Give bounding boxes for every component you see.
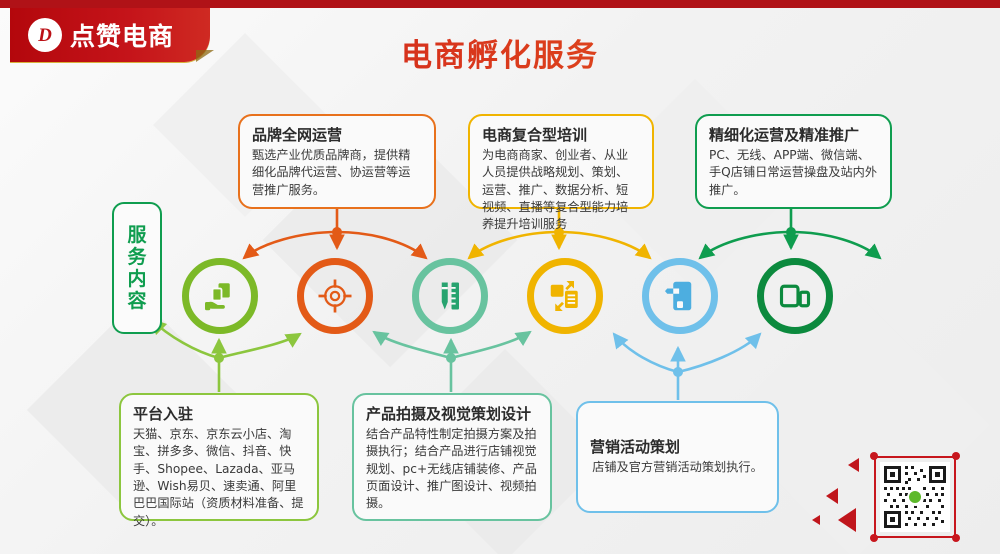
card-body: 店铺及官方营销活动策划执行。 [590, 459, 765, 476]
card-platform-entry[interactable]: 平台入驻 天猫、京东、京东云小店、淘宝、拼多多、微信、抖音、快手、Shopee、… [119, 393, 319, 521]
page-title: 电商孵化服务 [0, 30, 1000, 75]
qr-corner-dot [952, 534, 960, 542]
node-document-exchange[interactable] [527, 258, 603, 334]
card-body: 甄选产业优质品牌商，提供精细化品牌代运营、协运营等运营推广服务。 [252, 147, 422, 199]
card-title: 精细化运营及精准推广 [709, 126, 878, 144]
qr-logo [907, 489, 924, 506]
node-hand-holding-document[interactable] [182, 258, 258, 334]
side-label-char: 务 [127, 246, 146, 268]
card-title: 营销活动策划 [590, 438, 765, 456]
mobile-device-pen-icon [662, 278, 698, 314]
pen-and-ruler-icon [432, 278, 468, 314]
card-title: 产品拍摄及视觉策划设计 [366, 405, 538, 423]
card-title: 平台入驻 [133, 405, 305, 423]
card-body: PC、无线、APP端、微信端、手Q店铺日常运营操盘及站内外推广。 [709, 147, 878, 199]
decor-triangle [838, 508, 856, 532]
node-pen-and-ruler[interactable] [412, 258, 488, 334]
card-training[interactable]: 电商复合型培训 为电商商家、创业者、从业人员提供战略规划、策划、运营、推广、数据… [468, 114, 654, 209]
decor-triangle [848, 458, 859, 472]
node-target-crosshair[interactable] [297, 258, 373, 334]
document-exchange-icon [547, 278, 583, 314]
hand-holding-document-icon [202, 278, 238, 314]
qr-corner-dot [870, 452, 878, 460]
target-crosshair-icon [317, 278, 353, 314]
side-label-service-content: 服 务 内 容 [112, 202, 162, 334]
node-mobile-device-pen[interactable] [642, 258, 718, 334]
decor-triangle [812, 515, 820, 525]
card-brand-operation[interactable]: 品牌全网运营 甄选产业优质品牌商，提供精细化品牌代运营、协运营等运营推广服务。 [238, 114, 436, 209]
devices-tablet-phone-icon [777, 278, 813, 314]
card-refined-operation[interactable]: 精细化运营及精准推广 PC、无线、APP端、微信端、手Q店铺日常运营操盘及站内外… [695, 114, 892, 209]
qr-code[interactable] [874, 456, 956, 538]
qr-corner-dot [870, 534, 878, 542]
card-photography-visual[interactable]: 产品拍摄及视觉策划设计 结合产品特性制定拍摄方案及拍摄执行；结合产品进行店铺视觉… [352, 393, 552, 521]
card-body: 为电商商家、创业者、从业人员提供战略规划、策划、运营、推广、数据分析、短视频、直… [482, 147, 640, 234]
card-body: 天猫、京东、京东云小店、淘宝、拼多多、微信、抖音、快手、Shopee、Lazad… [133, 426, 305, 530]
card-body: 结合产品特性制定拍摄方案及拍摄执行；结合产品进行店铺视觉规划、pc+无线店铺装修… [366, 426, 538, 513]
slide-canvas: D 点赞电商 电商孵化服务 [0, 0, 1000, 554]
node-devices-tablet-phone[interactable] [757, 258, 833, 334]
card-title: 电商复合型培训 [482, 126, 640, 144]
top-accent-bar [0, 0, 1000, 8]
qr-pattern [880, 462, 950, 532]
side-label-char: 内 [127, 268, 146, 290]
card-title: 品牌全网运营 [252, 126, 422, 144]
side-label-char: 服 [127, 224, 146, 246]
decor-triangle [826, 488, 838, 504]
side-label-char: 容 [127, 290, 146, 312]
qr-corner-dot [952, 452, 960, 460]
card-marketing-campaign[interactable]: 营销活动策划 店铺及官方营销活动策划执行。 [576, 401, 779, 513]
